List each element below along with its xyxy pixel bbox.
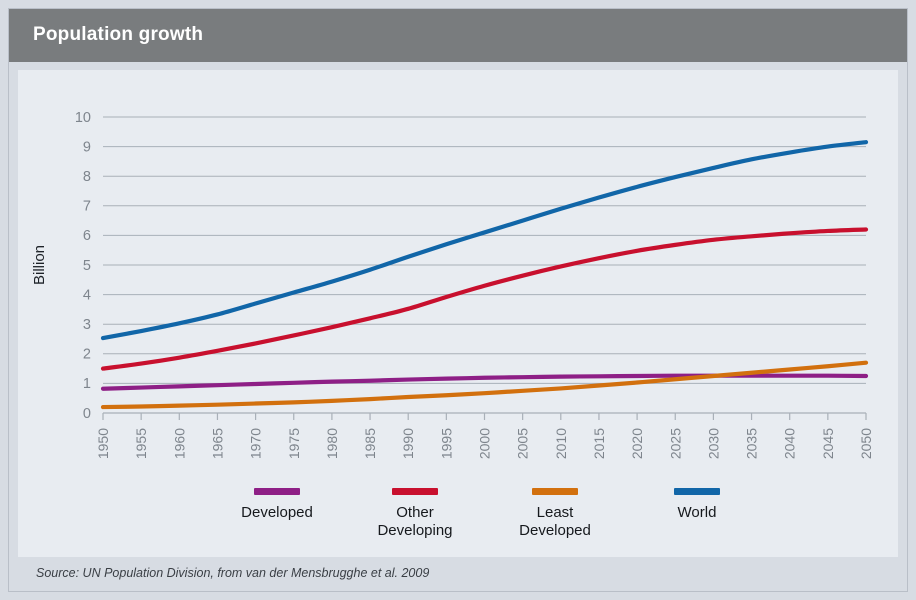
x-tick-label: 2025 bbox=[667, 428, 683, 459]
x-tick-label: 1955 bbox=[133, 428, 149, 459]
chart-panel: 012345678910 195019551960196519701975198… bbox=[18, 70, 898, 557]
x-tick-label: 2030 bbox=[705, 428, 721, 459]
title-bar: Population growth bbox=[9, 9, 907, 62]
x-tick-label: 1965 bbox=[209, 428, 225, 459]
legend-item-world[interactable]: World bbox=[627, 488, 767, 522]
x-tick-label: 2035 bbox=[744, 428, 760, 459]
legend-swatch bbox=[392, 488, 438, 495]
legend-label: Least Developed bbox=[485, 504, 625, 540]
source-note: Source: UN Population Division, from van… bbox=[36, 566, 429, 580]
page-title: Population growth bbox=[33, 24, 203, 46]
legend-swatch bbox=[254, 488, 300, 495]
chart-legend: DevelopedOther DevelopingLeast Developed… bbox=[18, 488, 898, 550]
y-tick-label: 6 bbox=[83, 228, 91, 244]
x-tick-label: 1995 bbox=[438, 428, 454, 459]
y-tick-label: 0 bbox=[83, 406, 91, 422]
x-tick-label: 1985 bbox=[362, 428, 378, 459]
legend-swatch bbox=[674, 488, 720, 495]
x-axis-ticks: 1950195519601965197019751980198519901995… bbox=[95, 413, 874, 459]
y-tick-label: 4 bbox=[83, 287, 91, 303]
series-line-other-developing bbox=[103, 229, 866, 368]
series-line-world bbox=[103, 142, 866, 338]
x-tick-label: 1960 bbox=[171, 428, 187, 459]
x-tick-label: 1950 bbox=[95, 428, 111, 459]
x-tick-label: 1990 bbox=[400, 428, 416, 459]
figure-root: Population growth 012345678910 195019551… bbox=[0, 0, 916, 600]
x-tick-label: 1975 bbox=[286, 428, 302, 459]
x-tick-label: 2040 bbox=[782, 428, 798, 459]
x-tick-label: 2010 bbox=[553, 428, 569, 459]
y-tick-label: 9 bbox=[83, 139, 91, 155]
x-tick-label: 1980 bbox=[324, 428, 340, 459]
x-tick-label: 2020 bbox=[629, 428, 645, 459]
line-chart: 012345678910 195019551960196519701975198… bbox=[18, 70, 898, 557]
legend-item-other-developing[interactable]: Other Developing bbox=[345, 488, 485, 540]
y-tick-label: 3 bbox=[83, 317, 91, 333]
x-tick-label: 2050 bbox=[858, 428, 874, 459]
y-tick-label: 10 bbox=[75, 110, 91, 126]
legend-label: Other Developing bbox=[345, 504, 485, 540]
x-tick-label: 2045 bbox=[820, 428, 836, 459]
y-axis-title: Billion bbox=[31, 245, 48, 285]
y-tick-label: 1 bbox=[83, 376, 91, 392]
legend-item-developed[interactable]: Developed bbox=[207, 488, 347, 522]
series-line-developed bbox=[103, 376, 866, 389]
x-tick-label: 2005 bbox=[515, 428, 531, 459]
y-axis-ticks: 012345678910 bbox=[75, 110, 91, 422]
legend-item-least-developed[interactable]: Least Developed bbox=[485, 488, 625, 540]
y-tick-label: 7 bbox=[83, 199, 91, 215]
x-tick-label: 2000 bbox=[477, 428, 493, 459]
legend-swatch bbox=[532, 488, 578, 495]
y-tick-label: 5 bbox=[83, 258, 91, 274]
legend-label: Developed bbox=[207, 504, 347, 522]
y-tick-label: 8 bbox=[83, 169, 91, 185]
y-tick-label: 2 bbox=[83, 347, 91, 363]
x-tick-label: 2015 bbox=[591, 428, 607, 459]
legend-label: World bbox=[627, 504, 767, 522]
x-tick-label: 1970 bbox=[248, 428, 264, 459]
series-group bbox=[103, 142, 866, 407]
